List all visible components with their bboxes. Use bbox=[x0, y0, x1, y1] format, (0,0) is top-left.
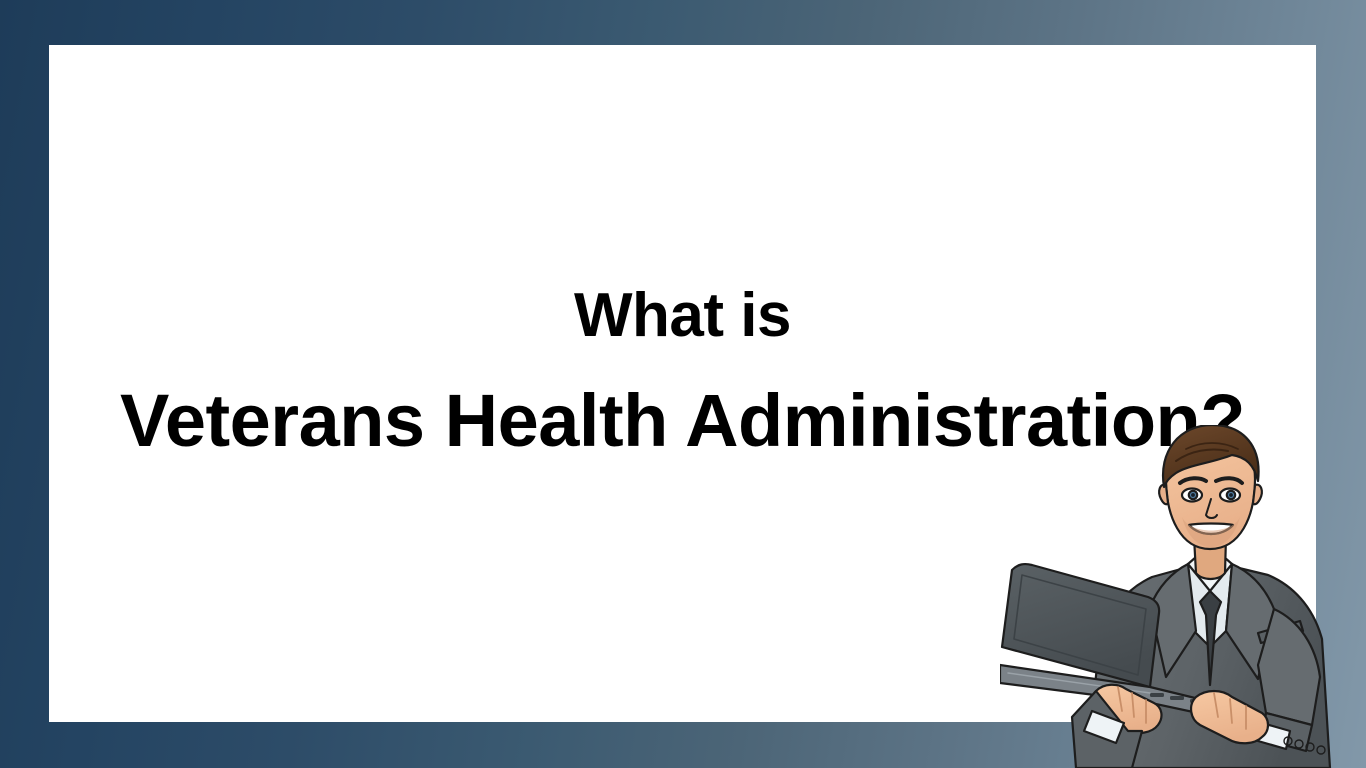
title-line-secondary: Veterans Health Administration? bbox=[49, 379, 1316, 463]
presentation-slide: What is Veterans Health Administration? bbox=[0, 0, 1366, 768]
slide-title-block: What is Veterans Health Administration? bbox=[49, 281, 1316, 463]
title-line-primary: What is bbox=[49, 281, 1316, 351]
slide-content-panel: What is Veterans Health Administration? bbox=[49, 45, 1316, 722]
